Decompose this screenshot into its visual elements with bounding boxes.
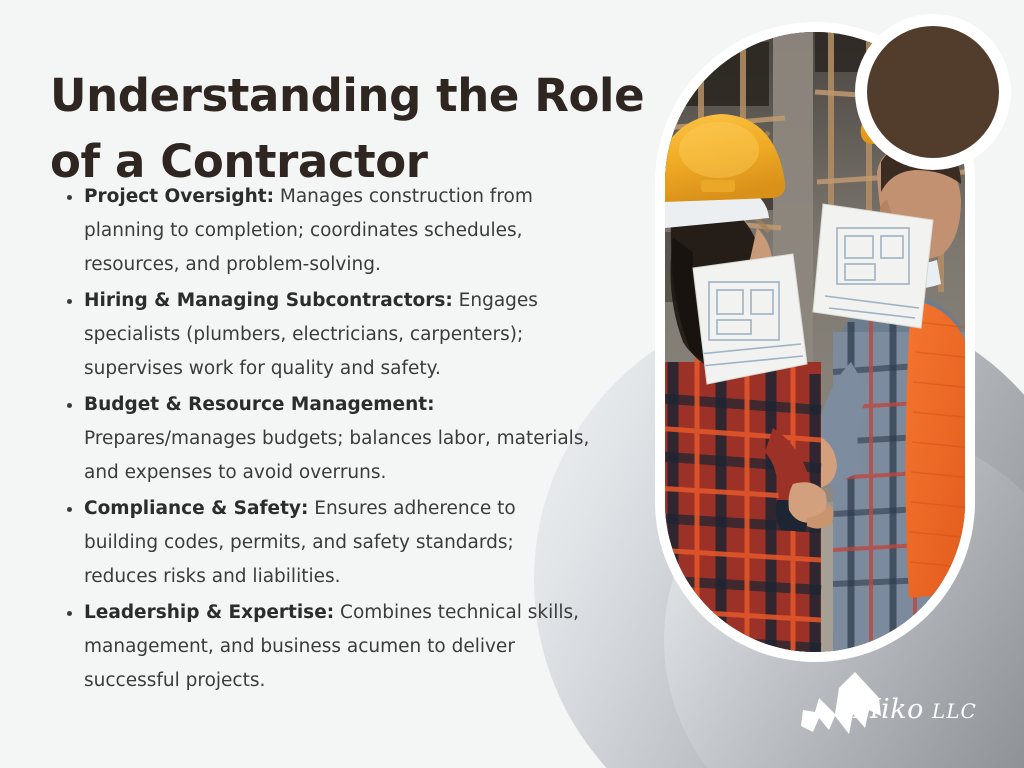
bullet-label: Leadership & Expertise: (84, 602, 334, 623)
bullet-label: Compliance & Safety: (84, 498, 308, 519)
miko-llc-logo: MikoLLC (795, 668, 980, 748)
brown-circle-fill (867, 26, 999, 158)
bullet-label: Budget & Resource Management: (84, 388, 592, 422)
logo-wordmark: MikoLLC (853, 694, 977, 725)
list-item: Leadership & Expertise: Combines technic… (62, 596, 592, 698)
logo-llc: LLC (932, 699, 977, 723)
list-item: Hiring & Managing Subcontractors: Engage… (62, 284, 592, 386)
list-item: Budget & Resource Management:Prepares/ma… (62, 388, 592, 490)
blueprint-left (693, 254, 807, 384)
page-title: Understanding the Role of a Contractor (50, 63, 670, 195)
bullet-list: Project Oversight: Manages construction … (62, 180, 592, 700)
logo-name-suffix: Miko (853, 694, 924, 725)
list-item: Compliance & Safety: Ensures adherence t… (62, 492, 592, 594)
bullet-text: Prepares/manages budgets; balances labor… (84, 428, 589, 483)
slide-canvas: Understanding the Role of a Contractor P… (0, 0, 1024, 768)
blueprint-right (813, 204, 933, 328)
list-item: Project Oversight: Manages construction … (62, 180, 592, 282)
bullet-label: Hiring & Managing Subcontractors: (84, 290, 453, 311)
brown-circle-badge (855, 14, 1011, 170)
bullet-label: Project Oversight: (84, 186, 274, 207)
